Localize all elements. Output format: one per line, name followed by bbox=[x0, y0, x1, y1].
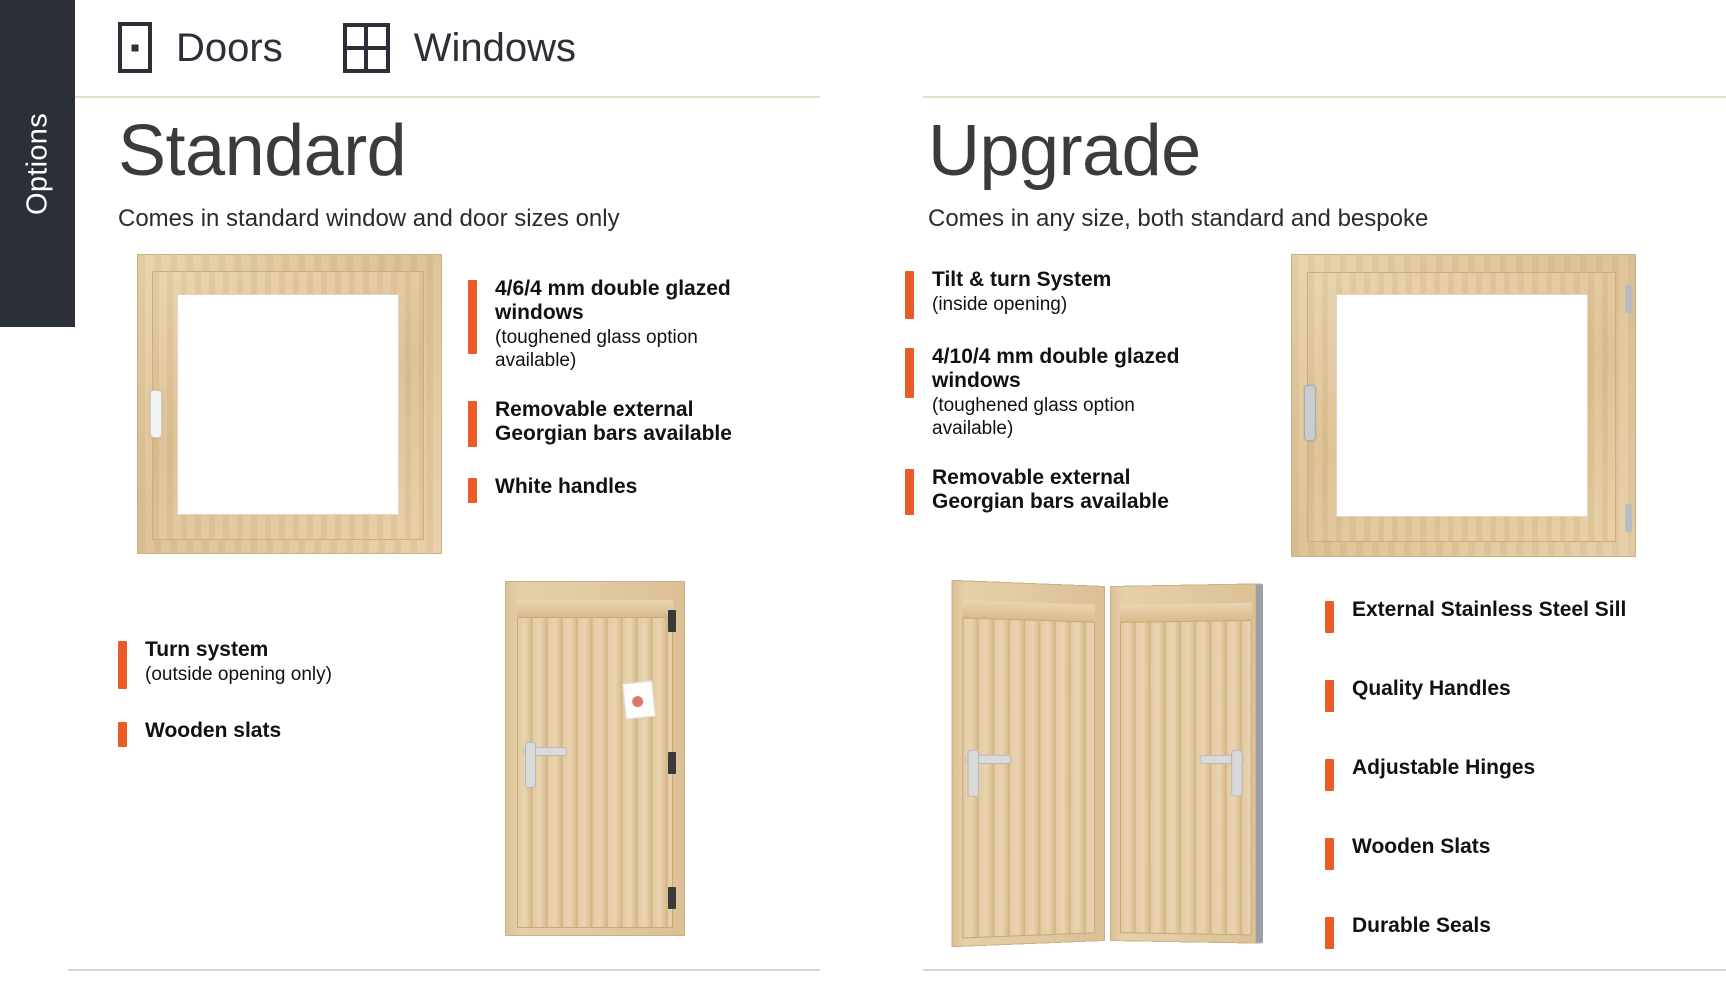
feature-item: 4/10/4 mm double glazed windows (toughen… bbox=[905, 345, 1205, 440]
options-sidebar-label: Options bbox=[21, 112, 54, 214]
feature-title: Quality Handles bbox=[1352, 677, 1725, 701]
upgrade-door-left-photo bbox=[955, 586, 1105, 941]
feature-title: Turn system bbox=[145, 638, 448, 662]
feature-title: 4/10/4 mm double glazed windows bbox=[932, 345, 1205, 393]
feature-note: (toughened glass option available) bbox=[932, 395, 1205, 441]
feature-title: Tilt & turn System bbox=[932, 268, 1205, 292]
divider-bottom-right bbox=[923, 969, 1726, 971]
options-sidebar-tab[interactable]: Options bbox=[0, 0, 75, 327]
nav-label-doors: Doors bbox=[176, 28, 283, 68]
feature-item: External Stainless Steel Sill bbox=[1325, 598, 1725, 633]
feature-title: 4/6/4 mm double glazed windows bbox=[495, 277, 768, 325]
standard-door-features: Turn system (outside opening only) Woode… bbox=[118, 638, 448, 765]
divider-bottom-left bbox=[68, 969, 820, 971]
standard-window-features: 4/6/4 mm double glazed windows (toughene… bbox=[468, 277, 768, 521]
feature-title: Adjustable Hinges bbox=[1352, 756, 1725, 780]
feature-item: 4/6/4 mm double glazed windows (toughene… bbox=[468, 277, 768, 372]
feature-item: Removable external Georgian bars availab… bbox=[905, 466, 1205, 515]
feature-item: Adjustable Hinges bbox=[1325, 756, 1725, 791]
standard-subtitle: Comes in standard window and door sizes … bbox=[118, 205, 818, 233]
feature-item: Wooden slats bbox=[118, 719, 448, 747]
upgrade-window-features: Tilt & turn System (inside opening) 4/10… bbox=[905, 268, 1205, 533]
feature-item: Removable external Georgian bars availab… bbox=[468, 398, 768, 447]
top-navigation: Doors Windows bbox=[118, 22, 636, 73]
feature-item: Turn system (outside opening only) bbox=[118, 638, 448, 689]
nav-item-doors[interactable]: Doors bbox=[118, 22, 283, 73]
upgrade-window-photo bbox=[1291, 254, 1636, 557]
upgrade-title: Upgrade bbox=[928, 115, 1688, 187]
feature-title: Durable Seals bbox=[1352, 914, 1725, 938]
nav-label-windows: Windows bbox=[414, 28, 576, 68]
feature-note: (toughened glass option available) bbox=[495, 327, 768, 373]
feature-title: Wooden Slats bbox=[1352, 835, 1725, 859]
window-icon bbox=[343, 23, 390, 73]
feature-title: Wooden slats bbox=[145, 719, 448, 743]
upgrade-door-right-photo bbox=[1110, 586, 1260, 941]
feature-item: White handles bbox=[468, 475, 768, 503]
feature-title: Removable external Georgian bars availab… bbox=[495, 398, 768, 446]
feature-item: Wooden Slats bbox=[1325, 835, 1725, 870]
upgrade-column-header: Upgrade Comes in any size, both standard… bbox=[928, 115, 1688, 233]
nav-item-windows[interactable]: Windows bbox=[343, 23, 576, 73]
feature-item: Quality Handles bbox=[1325, 677, 1725, 712]
feature-item: Durable Seals bbox=[1325, 914, 1725, 949]
divider-top-left bbox=[75, 96, 820, 98]
upgrade-subtitle: Comes in any size, both standard and bes… bbox=[928, 205, 1688, 233]
feature-item: Tilt & turn System (inside opening) bbox=[905, 268, 1205, 319]
feature-note: (outside opening only) bbox=[145, 664, 448, 687]
standard-window-photo bbox=[137, 254, 442, 554]
feature-title: External Stainless Steel Sill bbox=[1352, 598, 1725, 622]
standard-door-photo bbox=[505, 581, 685, 936]
divider-top-right bbox=[923, 96, 1726, 98]
upgrade-door-features: External Stainless Steel Sill Quality Ha… bbox=[1325, 598, 1725, 967]
standard-title: Standard bbox=[118, 115, 818, 187]
standard-column-header: Standard Comes in standard window and do… bbox=[118, 115, 818, 233]
slide-canvas: Options Doors Windows Standard Comes in … bbox=[0, 0, 1726, 995]
feature-title: White handles bbox=[495, 475, 768, 499]
door-icon bbox=[118, 22, 152, 73]
feature-note: (inside opening) bbox=[932, 294, 1205, 317]
feature-title: Removable external Georgian bars availab… bbox=[932, 466, 1205, 514]
